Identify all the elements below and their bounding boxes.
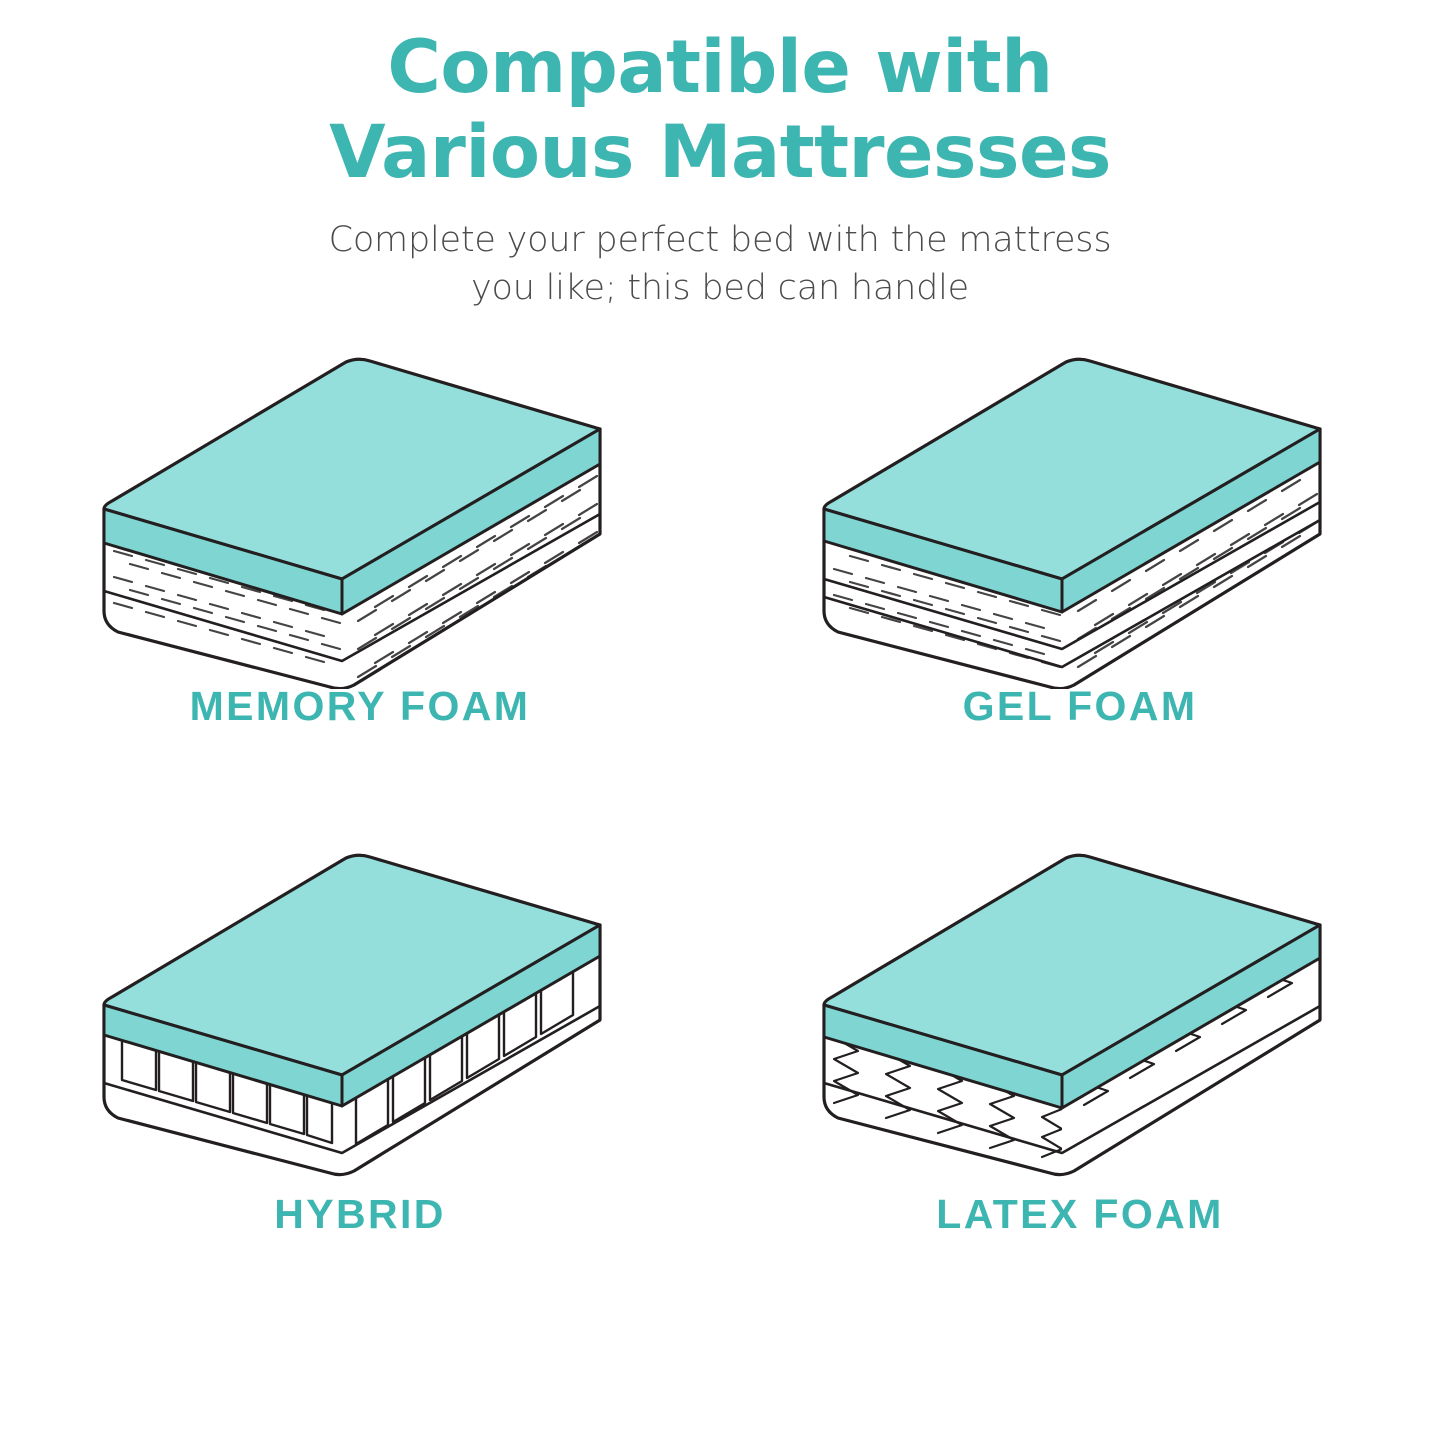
header: Compatible with Various Mattresses Compl… <box>0 0 1440 313</box>
page-title-line-1: Compatible with <box>0 26 1440 111</box>
latex-foam-mattress-icon <box>800 825 1360 1185</box>
page-title-line-2: Various Mattresses <box>0 111 1440 196</box>
mattress-label-memory-foam: MEMORY FOAM <box>190 683 531 730</box>
mattress-card-gel-foam: GEL FOAM <box>720 327 1440 807</box>
hybrid-mattress-icon <box>80 825 640 1185</box>
mattress-label-gel-foam: GEL FOAM <box>963 683 1198 730</box>
mattress-grid: MEMORY FOAM <box>0 327 1440 1287</box>
mattress-card-memory-foam: MEMORY FOAM <box>0 327 720 807</box>
mattress-label-latex-foam: LATEX FOAM <box>936 1191 1223 1238</box>
gel-foam-mattress-icon <box>800 329 1360 689</box>
page-subtitle-line-1: Complete your perfect bed with the mattr… <box>0 217 1440 265</box>
memory-foam-mattress-icon <box>80 329 640 689</box>
mattress-label-hybrid: HYBRID <box>274 1191 446 1238</box>
page-subtitle-line-2: you like; this bed can handle <box>0 265 1440 313</box>
mattress-card-latex-foam: LATEX FOAM <box>720 807 1440 1287</box>
mattress-card-hybrid: HYBRID <box>0 807 720 1287</box>
page-subtitle: Complete your perfect bed with the mattr… <box>0 217 1440 312</box>
page-title: Compatible with Various Mattresses <box>0 26 1440 195</box>
infographic-page: Compatible with Various Mattresses Compl… <box>0 0 1440 1440</box>
